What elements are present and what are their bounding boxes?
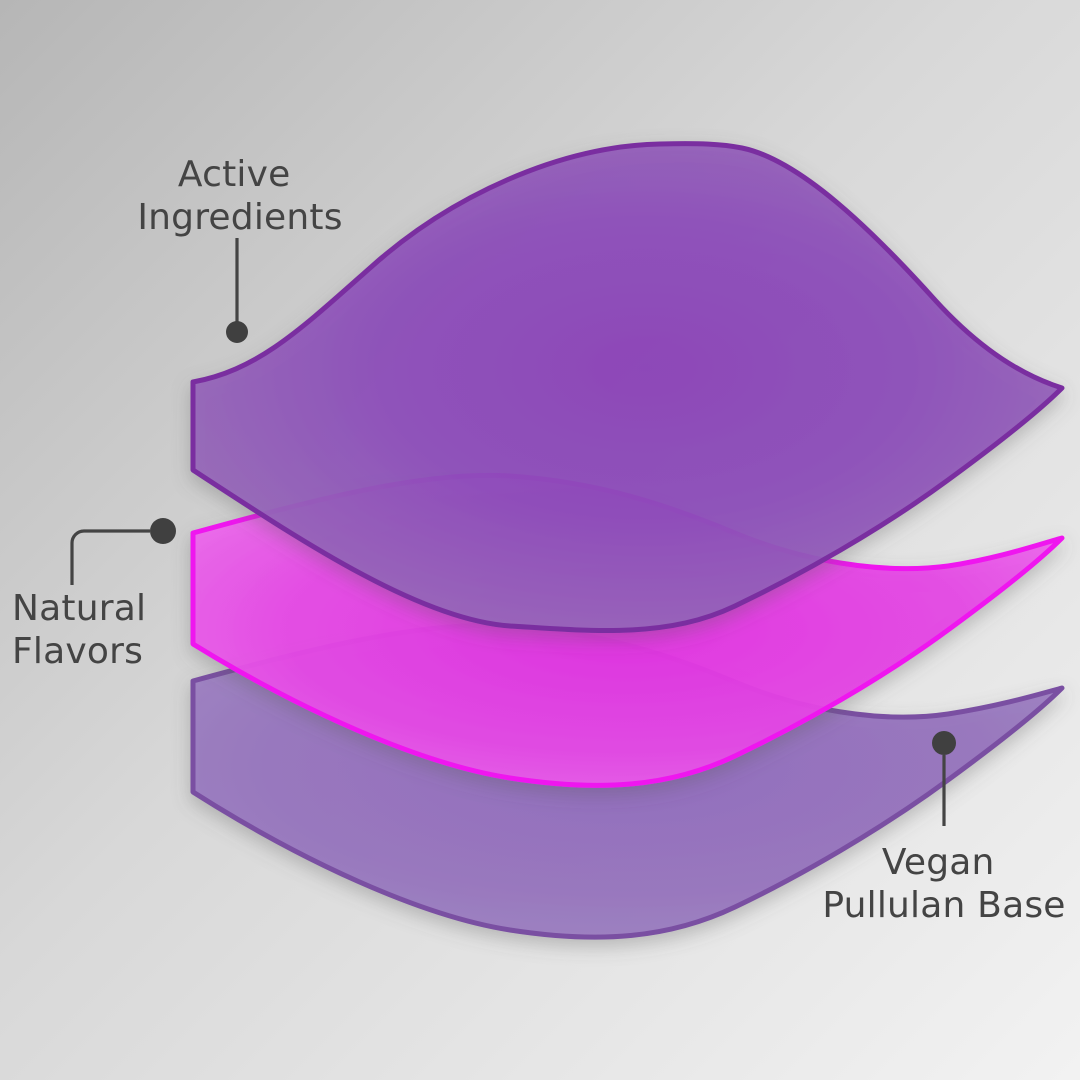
label-natural-flavors-line1: Natural: [12, 588, 146, 629]
label-active-ingredients-line1: Active: [178, 154, 291, 195]
connector-dot-vegan-pullulan-base[interactable]: [932, 731, 956, 755]
diagram-canvas: Active Ingredients Natural Flavors Vegan…: [0, 0, 1080, 1080]
label-active-ingredients-line2: Ingredients: [137, 197, 342, 238]
label-vegan-pullulan-base-line1: Vegan: [882, 842, 995, 883]
connector-dot-natural-flavors[interactable]: [150, 518, 176, 544]
layered-sheet-illustration: Active Ingredients Natural Flavors Vegan…: [0, 0, 1080, 1080]
label-vegan-pullulan-base-line2: Pullulan Base: [822, 885, 1065, 926]
connector-dot-active-ingredients[interactable]: [226, 321, 248, 343]
label-natural-flavors-line2: Flavors: [12, 631, 143, 672]
